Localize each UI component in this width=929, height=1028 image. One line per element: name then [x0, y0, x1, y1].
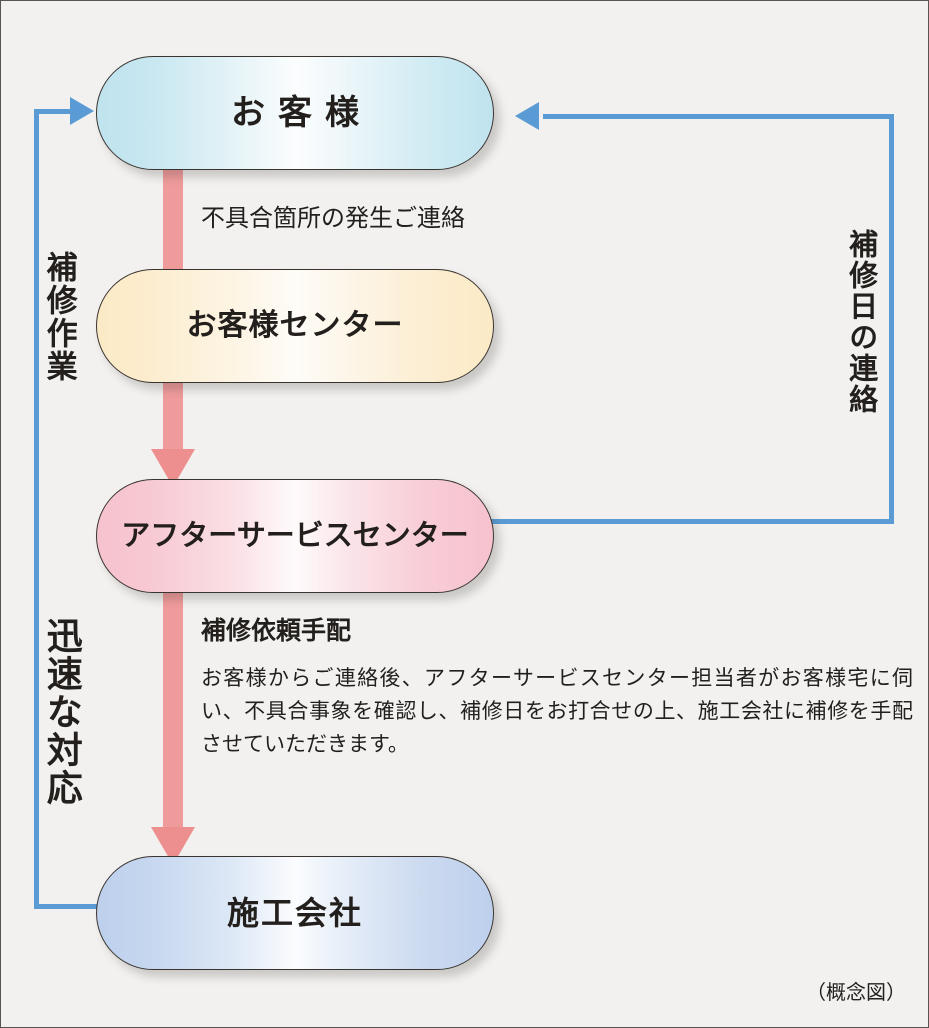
- connector-left-arrowhead-icon: [70, 97, 94, 125]
- arrow-shaft: [163, 375, 183, 449]
- vertical-label-repair-work: 補修作業: [43, 251, 75, 383]
- flowchart-canvas: お客様 お客様センター アフターサービスセンター 施工会社 補修作業 迅速な対応…: [0, 0, 929, 1028]
- node-customer-label: お客様: [218, 96, 372, 130]
- connector-left-vertical-segment: [34, 109, 39, 909]
- caption-report-defect: 不具合箇所の発生ご連絡: [201, 198, 465, 233]
- node-customer-center-label: お客様センター: [187, 311, 404, 341]
- connector-right-vertical-segment: [889, 114, 894, 524]
- arrange-text-block: 補修依頼手配 お客様からご連絡後、アフターサービスセンター担当者がお客様宅に伺い…: [201, 619, 913, 762]
- vertical-label-repair-date-contact: 補修日の連絡: [845, 229, 875, 415]
- arrange-body: お客様からご連絡後、アフターサービスセンター担当者がお客様宅に伺い、不具合事象を…: [201, 662, 913, 762]
- connector-right-bottom-segment: [490, 519, 894, 524]
- node-builder-label: 施工会社: [227, 897, 363, 929]
- footnote-conceptual-diagram: （概念図）: [806, 976, 906, 1005]
- connector-right-arrowhead-icon: [515, 102, 539, 130]
- arrow-shaft: [163, 585, 183, 827]
- node-customer-center[interactable]: お客様センター: [96, 269, 494, 383]
- connector-left-top-segment: [34, 109, 72, 114]
- arrange-title: 補修依頼手配: [201, 619, 913, 644]
- connector-left-bottom-segment: [34, 904, 104, 909]
- vertical-label-quick-response: 迅速な対応: [43, 617, 80, 807]
- node-builder[interactable]: 施工会社: [96, 856, 494, 970]
- node-after-service-center-label: アフターサービスセンター: [121, 522, 468, 551]
- flow-arrow-center-to-after-service: [151, 375, 195, 487]
- flow-arrow-customer-to-center: [151, 161, 195, 279]
- arrow-shaft: [163, 161, 183, 279]
- flow-arrow-after-service-to-builder: [151, 585, 195, 865]
- node-customer[interactable]: お客様: [96, 56, 494, 170]
- connector-right-top-segment: [543, 114, 894, 119]
- node-after-service-center[interactable]: アフターサービスセンター: [96, 479, 494, 593]
